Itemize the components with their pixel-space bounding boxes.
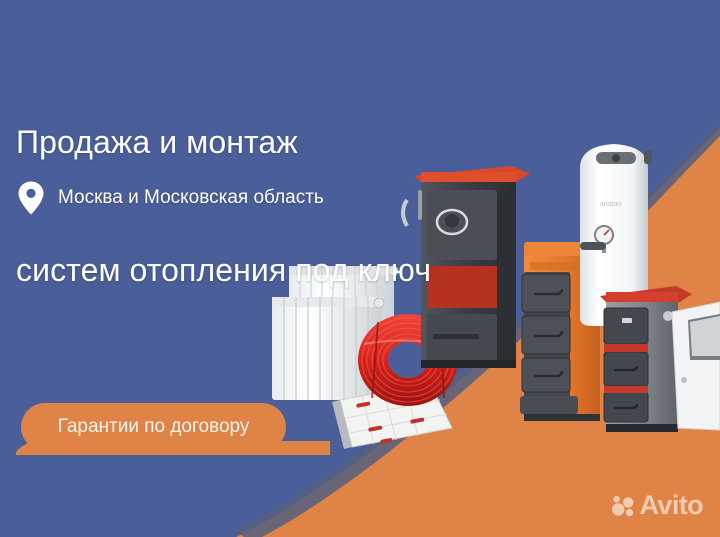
white-wall-panel [672, 302, 720, 430]
svg-text:ariston: ariston [600, 201, 621, 208]
avito-dots-icon [612, 495, 634, 517]
avito-watermark: Avito [612, 492, 704, 519]
map-pin-icon [18, 181, 44, 215]
location-row: Москва и Московская область [18, 181, 324, 215]
avito-wordmark: Avito [640, 492, 704, 519]
boiler-small-badge-icon [622, 318, 632, 323]
advertisement-banner: ariston [0, 0, 720, 537]
guarantee-contract-button[interactable]: Гарантии по договору [21, 403, 286, 451]
headline-line-2: систем отопления под ключ [16, 249, 431, 292]
location-label: Москва и Московская область [58, 187, 324, 209]
headline-line-1: Продажа и монтаж [16, 121, 431, 164]
